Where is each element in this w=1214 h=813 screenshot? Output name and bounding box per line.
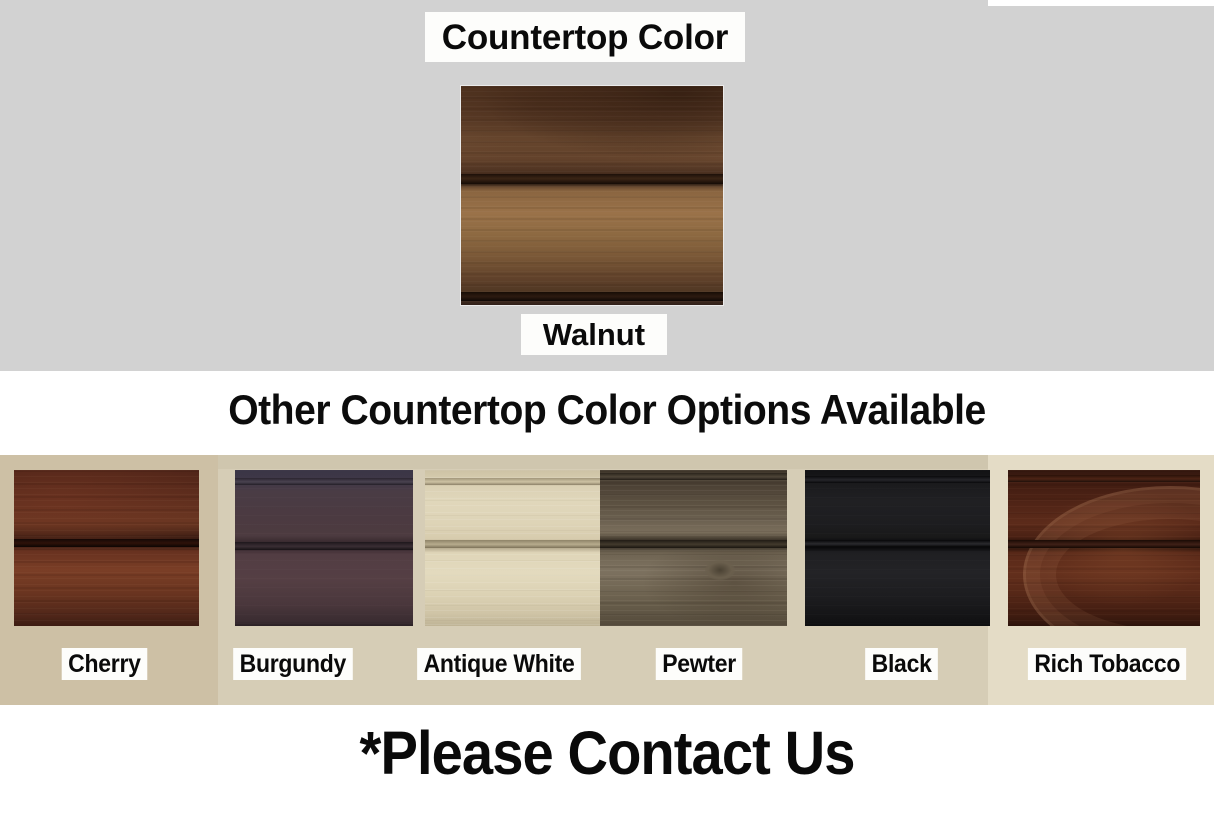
swatch-groove-upper bbox=[425, 478, 605, 485]
options-heading: Other Countertop Color Options Available bbox=[42, 386, 1171, 434]
option-swatch-burgundy[interactable] bbox=[235, 470, 413, 626]
swatch-groove-upper bbox=[600, 473, 787, 480]
countertop-color-selector: Countertop Color Walnut Other Countertop… bbox=[0, 0, 1214, 813]
option-swatch-black[interactable] bbox=[805, 470, 990, 626]
swatch-groove-upper bbox=[461, 174, 723, 184]
option-label-burgundy: Burgundy bbox=[233, 648, 352, 680]
page-title: Countertop Color bbox=[425, 12, 745, 62]
swatch-groove-lower bbox=[461, 292, 723, 301]
swatch-groove bbox=[14, 539, 199, 547]
swatch-groove-lower bbox=[600, 540, 787, 548]
swatch-groove-lower bbox=[425, 540, 605, 548]
option-swatch-antique-white[interactable] bbox=[425, 470, 605, 626]
option-swatch-rich-tobacco[interactable] bbox=[1008, 470, 1200, 626]
contact-note: *Please Contact Us bbox=[49, 718, 1166, 788]
swatch-grain-texture bbox=[805, 470, 990, 626]
option-swatch-cherry[interactable] bbox=[14, 470, 199, 626]
option-label-black: Black bbox=[865, 648, 938, 680]
swatch-groove-upper bbox=[1008, 475, 1200, 482]
selected-color-label: Walnut bbox=[521, 314, 667, 355]
swatch-grain-texture bbox=[461, 86, 723, 305]
swatch-grain-texture bbox=[14, 470, 199, 626]
swatch-groove-upper bbox=[805, 476, 990, 483]
swatch-groove-lower bbox=[235, 542, 413, 550]
option-label-cherry: Cherry bbox=[62, 648, 147, 680]
selected-swatch-walnut[interactable] bbox=[461, 86, 723, 305]
swatch-groove-lower bbox=[1008, 540, 1200, 548]
option-label-antique-white: Antique White bbox=[417, 648, 581, 680]
option-swatch-pewter[interactable] bbox=[600, 470, 787, 626]
swatch-groove-lower bbox=[805, 540, 990, 547]
panel-top-white-strip bbox=[988, 0, 1214, 6]
option-label-pewter: Pewter bbox=[656, 648, 743, 680]
band-tone-top-edge bbox=[218, 455, 988, 469]
swatch-groove-upper bbox=[235, 478, 413, 485]
option-label-rich-tobacco: Rich Tobacco bbox=[1028, 648, 1187, 680]
